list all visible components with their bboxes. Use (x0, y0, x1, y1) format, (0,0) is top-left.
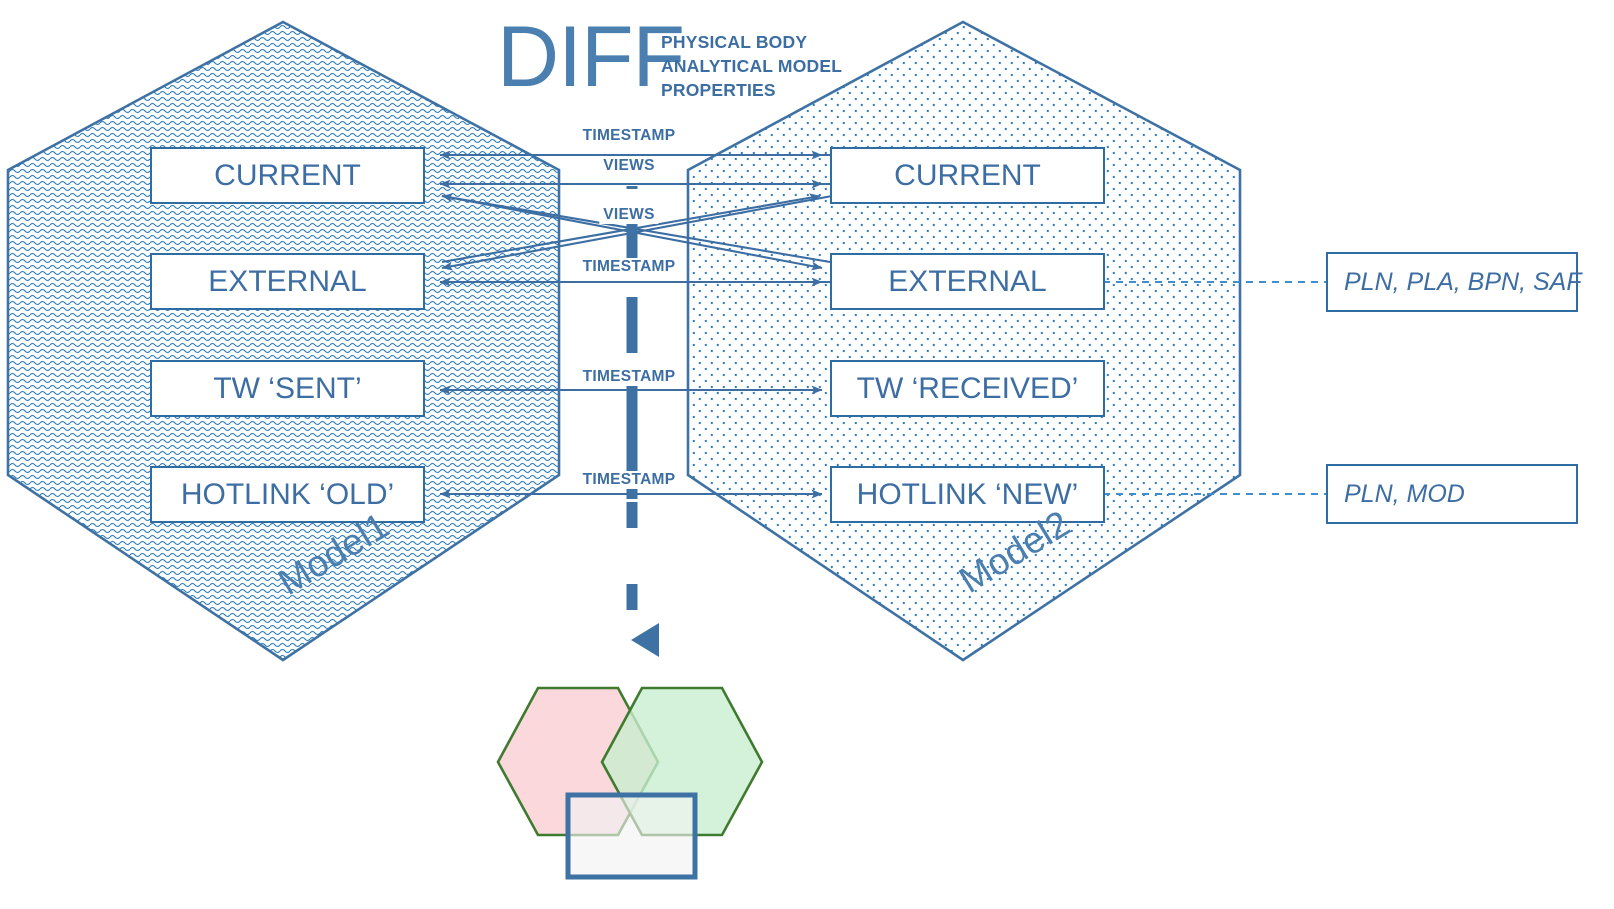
connector-label-timestamp-2: TIMESTAMP (579, 258, 680, 276)
model1-box-hotlink-old[interactable]: HOTLINK ‘OLD’ (150, 466, 425, 523)
diagram-canvas: DIFF PHYSICAL BODY ANALYTICAL MODEL PROP… (0, 0, 1614, 909)
model2-box-tw-received[interactable]: TW ‘RECEIVED’ (830, 360, 1105, 417)
model1-box-current[interactable]: CURRENT (150, 147, 425, 204)
connector-label-views-1: VIEWS (599, 157, 658, 175)
subtitle-line-1: PHYSICAL BODY (661, 30, 891, 54)
model1-box-external[interactable]: EXTERNAL (150, 253, 425, 310)
model2-box-external[interactable]: EXTERNAL (830, 253, 1105, 310)
connector-label-timestamp-1: TIMESTAMP (579, 127, 680, 145)
diagram-vector-layer (0, 0, 1614, 909)
page-subtitle: PHYSICAL BODY ANALYTICAL MODEL PROPERTIE… (661, 30, 891, 102)
annotation-box-hotlink[interactable]: PLN, MOD (1326, 464, 1578, 524)
connector-label-timestamp-4: TIMESTAMP (579, 471, 680, 489)
subtitle-line-2: ANALYTICAL MODEL (661, 54, 891, 78)
model2-box-current[interactable]: CURRENT (830, 147, 1105, 204)
page-title: DIFF (497, 14, 684, 100)
connector-label-views-2: VIEWS (599, 206, 658, 224)
model1-box-tw-sent[interactable]: TW ‘SENT’ (150, 360, 425, 417)
venn-result (498, 688, 762, 877)
subtitle-line-3: PROPERTIES (661, 78, 891, 102)
venn-overlay-rect (568, 795, 695, 877)
annotation-box-external[interactable]: PLN, PLA, BPN, SAF (1326, 252, 1578, 312)
model2-box-hotlink-new[interactable]: HOTLINK ‘NEW’ (830, 466, 1105, 523)
connector-label-timestamp-3: TIMESTAMP (579, 368, 680, 386)
